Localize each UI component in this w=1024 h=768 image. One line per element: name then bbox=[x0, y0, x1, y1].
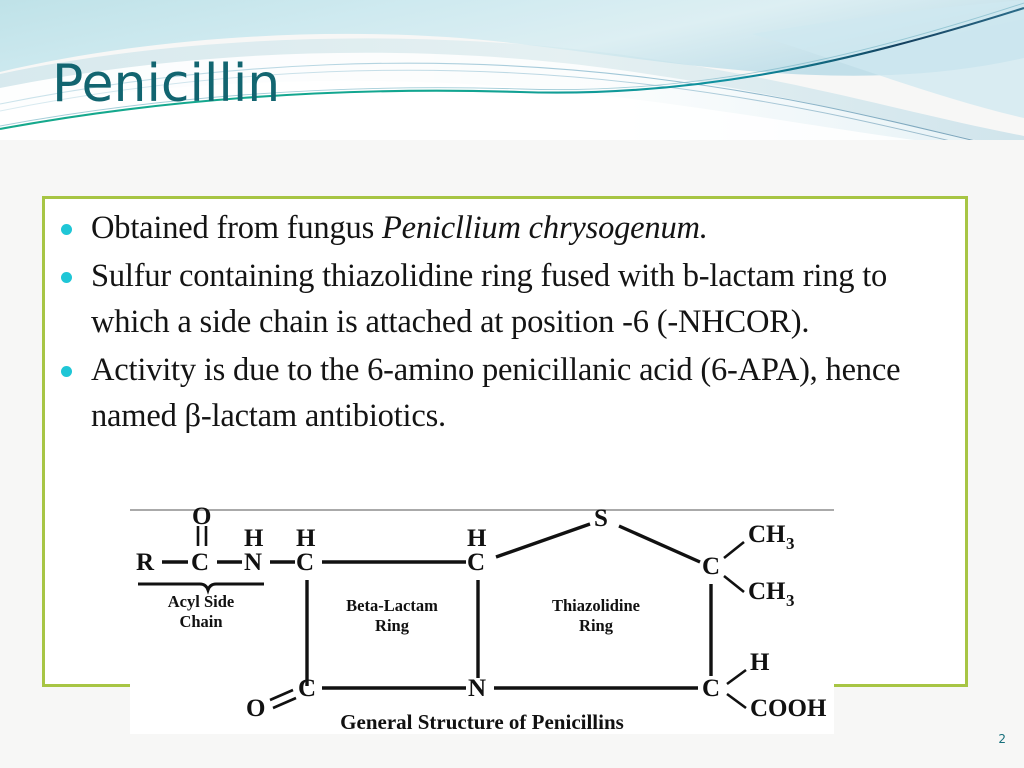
atom-label-C5: C bbox=[467, 549, 485, 576]
atom-label-C7: C bbox=[298, 675, 316, 702]
acyl-side-chain-label-line1: Acyl Side bbox=[168, 592, 234, 611]
penicillin-structure-figure: R C O H N Acyl Side bbox=[130, 504, 834, 734]
list-item: Activity is due to the 6-amino penicilla… bbox=[61, 347, 945, 439]
bullet-dot-icon bbox=[61, 272, 72, 283]
thiazolidine-ring-label-line2: Ring bbox=[579, 616, 614, 635]
atom-label-CH3-upper-subscript: 3 bbox=[786, 534, 795, 553]
atom-label-C6: C bbox=[296, 549, 314, 576]
bullet-list: Obtained from fungus Penicllium chrysoge… bbox=[61, 205, 945, 441]
atom-label-N-amide: N bbox=[244, 549, 262, 576]
atom-label-C2: C bbox=[702, 553, 720, 580]
atom-label-C-acyl: C bbox=[191, 549, 209, 576]
atom-label-O-carbonyl: O bbox=[192, 504, 211, 530]
list-item: Obtained from fungus Penicllium chrysoge… bbox=[61, 205, 945, 251]
page-title: Penicillin bbox=[52, 58, 280, 110]
content-placeholder: Obtained from fungus Penicllium chrysoge… bbox=[42, 196, 968, 687]
bullet-marker bbox=[61, 253, 91, 288]
atom-label-S: S bbox=[594, 505, 608, 532]
atom-label-H-C3: H bbox=[750, 649, 770, 676]
figure-caption: General Structure of Penicillins bbox=[340, 710, 624, 734]
acyl-side-chain-label-line2: Chain bbox=[179, 612, 222, 631]
bullet-origin-species: Penicllium chrysogenum. bbox=[382, 210, 708, 246]
slide-number: 2 bbox=[998, 732, 1006, 746]
atom-label-H-amide: H bbox=[244, 525, 264, 552]
bullet-activity-text: Activity is due to the 6-amino penicilla… bbox=[91, 347, 945, 439]
atom-label-CH3-upper: CH bbox=[748, 521, 786, 548]
atom-label-CH3-lower-subscript: 3 bbox=[786, 591, 795, 610]
atom-label-H-C6: H bbox=[296, 525, 316, 552]
bullet-dot-icon bbox=[61, 366, 72, 377]
thiazolidine-ring-label-line1: Thiazolidine bbox=[552, 596, 640, 615]
atom-label-N-ring: N bbox=[468, 675, 486, 702]
presentation-slide: Penicillin Obtained from fungus Peniclli… bbox=[0, 0, 1024, 768]
bullet-origin-text: Obtained from fungus Penicllium chrysoge… bbox=[91, 205, 945, 251]
bullet-origin-lead: Obtained from fungus bbox=[91, 210, 382, 246]
atom-label-C3: C bbox=[702, 675, 720, 702]
bullet-dot-icon bbox=[61, 224, 72, 235]
atom-label-COOH: COOH bbox=[750, 695, 827, 722]
bullet-structure-text: Sulfur containing thiazolidine ring fuse… bbox=[91, 253, 945, 345]
beta-lactam-ring-label-line2: Ring bbox=[375, 616, 410, 635]
atom-label-H-C5: H bbox=[467, 525, 487, 552]
bullet-marker bbox=[61, 205, 91, 240]
atom-label-O-lactam: O bbox=[246, 695, 265, 722]
atom-label-CH3-lower: CH bbox=[748, 578, 786, 605]
atom-label-R: R bbox=[136, 549, 155, 576]
beta-lactam-ring-label-line1: Beta-Lactam bbox=[346, 596, 438, 615]
bullet-marker bbox=[61, 347, 91, 382]
list-item: Sulfur containing thiazolidine ring fuse… bbox=[61, 253, 945, 345]
